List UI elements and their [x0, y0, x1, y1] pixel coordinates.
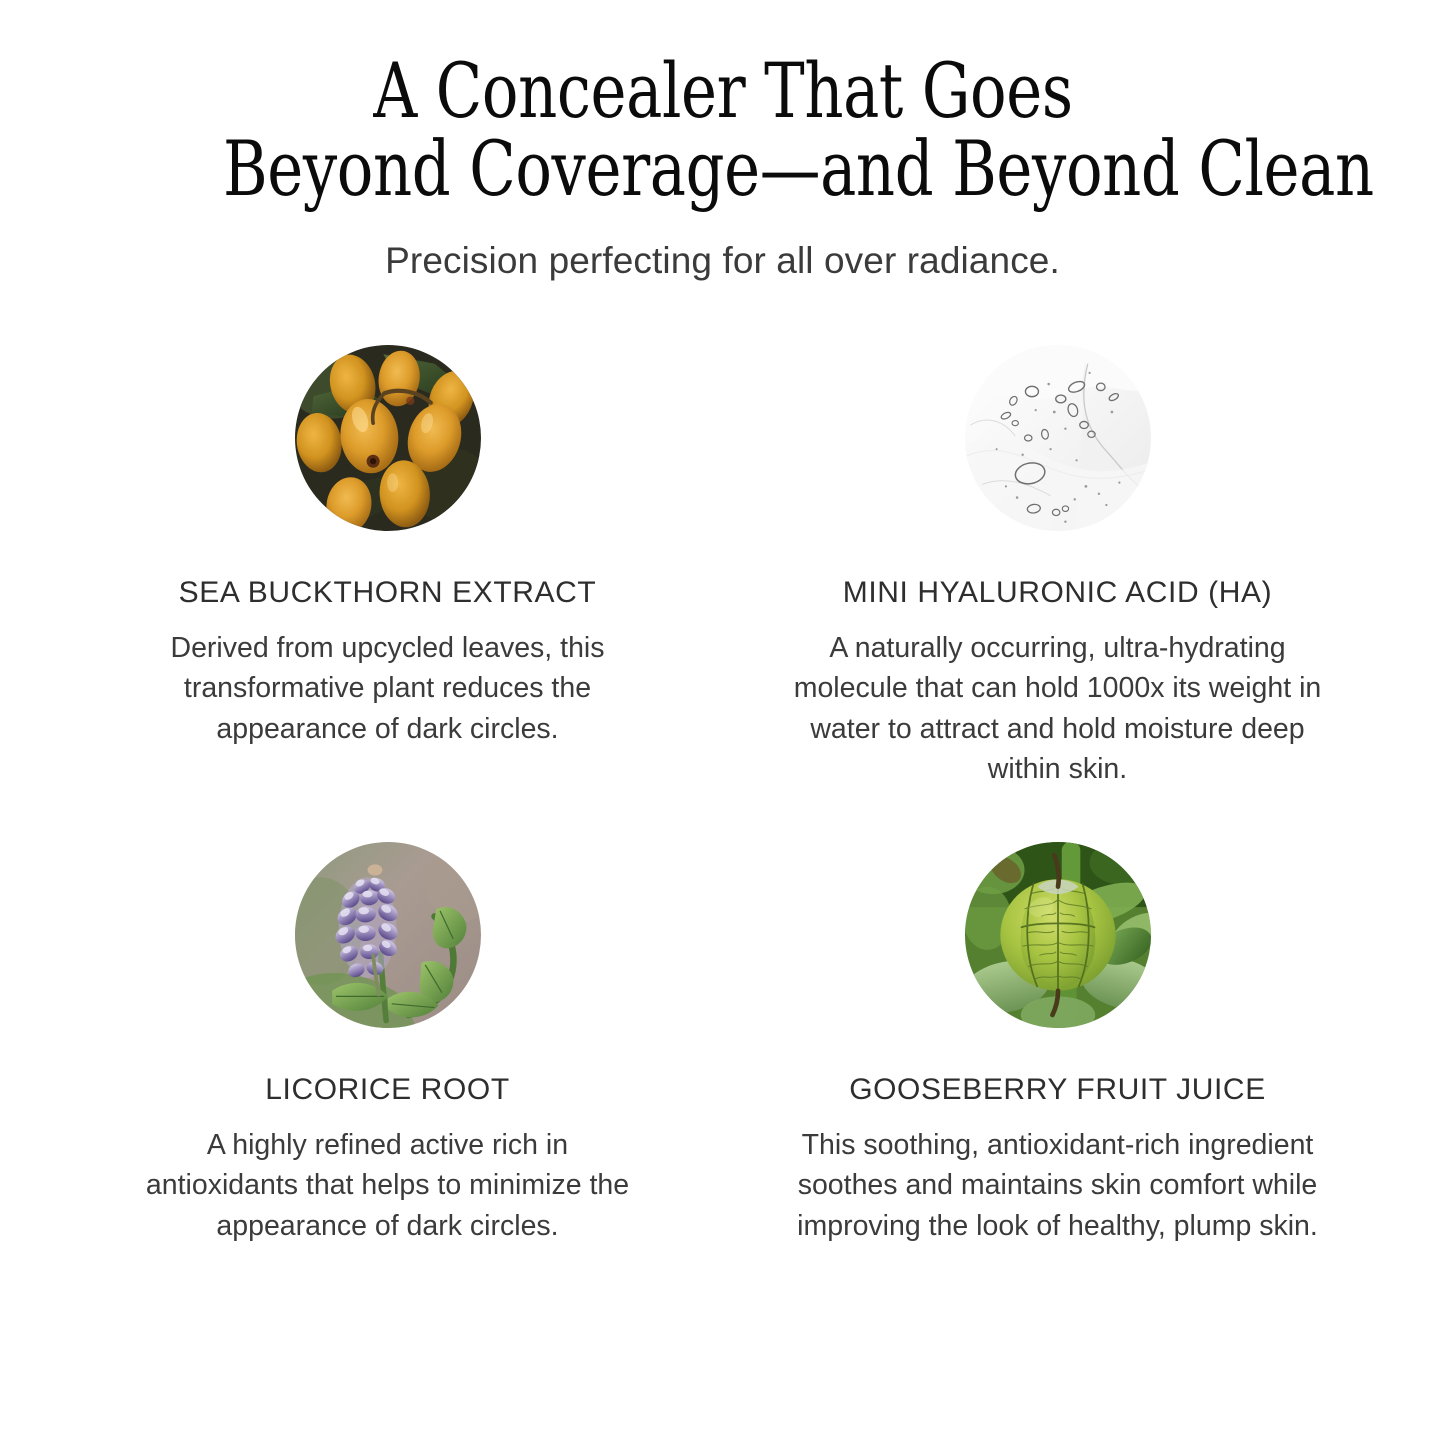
- ingredient-description: This soothing, antioxidant-rich ingredie…: [790, 1125, 1325, 1246]
- header: A Concealer That Goes Beyond Coverage—an…: [0, 0, 1445, 283]
- page-title: A Concealer That Goes Beyond Coverage—an…: [223, 52, 1223, 209]
- hyaluronic-acid-gel-texture-photo: [965, 345, 1151, 531]
- ingredient-description: A highly refined active rich in antioxid…: [138, 1125, 638, 1246]
- ingredient-title: SEA BUCKTHORN EXTRACT: [179, 576, 597, 610]
- gooseberry-fruit-photo: [965, 842, 1151, 1028]
- licorice-root-flower-photo: [295, 842, 481, 1028]
- ingredient-card-sea-buckthorn: SEA BUCKTHORN EXTRACT Derived from upcyc…: [53, 345, 723, 790]
- ingredient-title: LICORICE ROOT: [265, 1073, 510, 1107]
- page-subtitle: Precision perfecting for all over radian…: [0, 239, 1445, 283]
- ingredient-card-licorice-root: LICORICE ROOT A highly refined active ri…: [53, 842, 723, 1246]
- sea-buckthorn-berries-photo: [295, 345, 481, 531]
- ingredient-description: Derived from upcycled leaves, this trans…: [138, 628, 638, 749]
- ingredient-description: A naturally occurring, ultra-hydrating m…: [790, 628, 1325, 790]
- ingredient-card-gooseberry: GOOSEBERRY FRUIT JUICE This soothing, an…: [723, 842, 1393, 1246]
- ingredient-grid: SEA BUCKTHORN EXTRACT Derived from upcyc…: [53, 345, 1393, 1246]
- ingredient-title: MINI HYALURONIC ACID (HA): [843, 576, 1272, 610]
- ingredient-card-hyaluronic-acid: MINI HYALURONIC ACID (HA) A naturally oc…: [723, 345, 1393, 790]
- ingredient-benefits-infographic: A Concealer That Goes Beyond Coverage—an…: [0, 0, 1445, 1445]
- page-title-line-1: A Concealer That Goes: [223, 52, 1223, 130]
- ingredient-title: GOOSEBERRY FRUIT JUICE: [849, 1073, 1266, 1107]
- page-title-line-2: Beyond Coverage—and Beyond Clean: [223, 130, 1223, 208]
